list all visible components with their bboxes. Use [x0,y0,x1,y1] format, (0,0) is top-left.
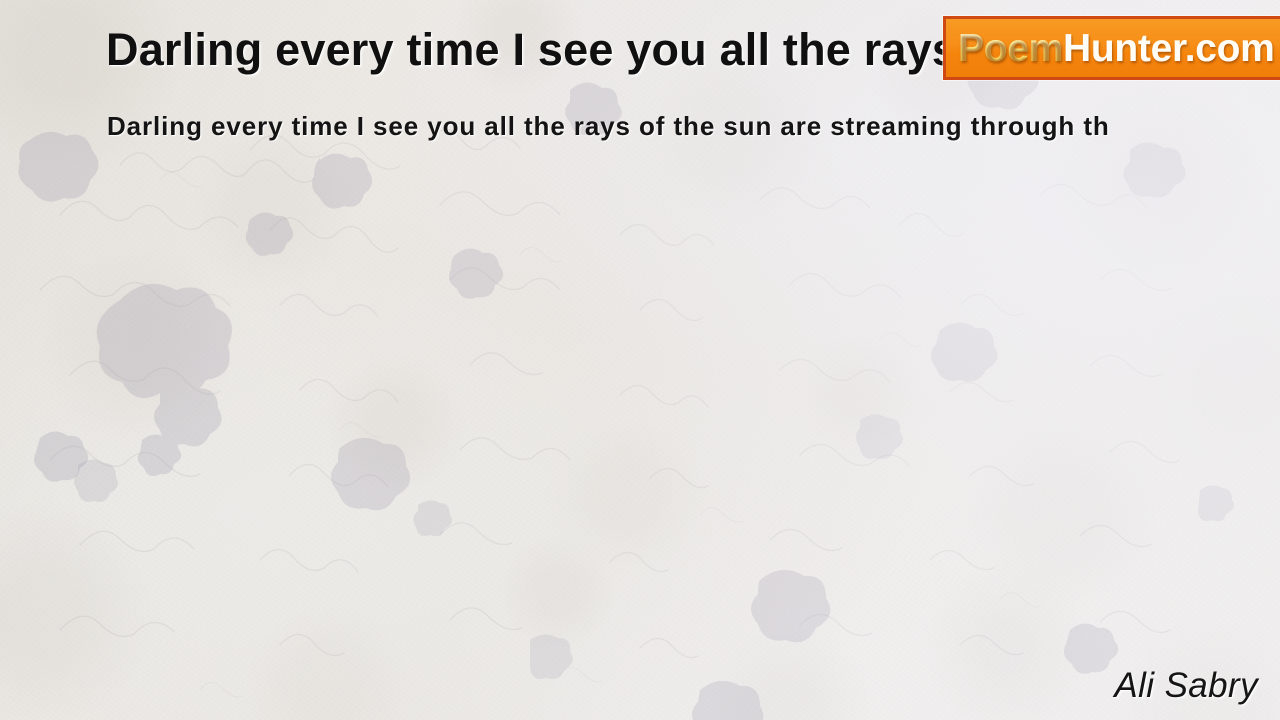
watermark-hunter-text: Hunter.com [1063,29,1275,68]
watermark-text: PoemHunter.com [958,29,1275,68]
poem-line: Darling every time I see you all the ray… [107,112,1110,142]
poemhunter-watermark[interactable]: PoemHunter.com [943,16,1280,80]
author-name: Ali Sabry [1114,666,1258,706]
watermark-poem-text: Poem [958,29,1063,68]
paper-light-wash [0,0,1280,720]
poem-video-frame: Darling every time I see you all the ray… [0,0,1280,720]
